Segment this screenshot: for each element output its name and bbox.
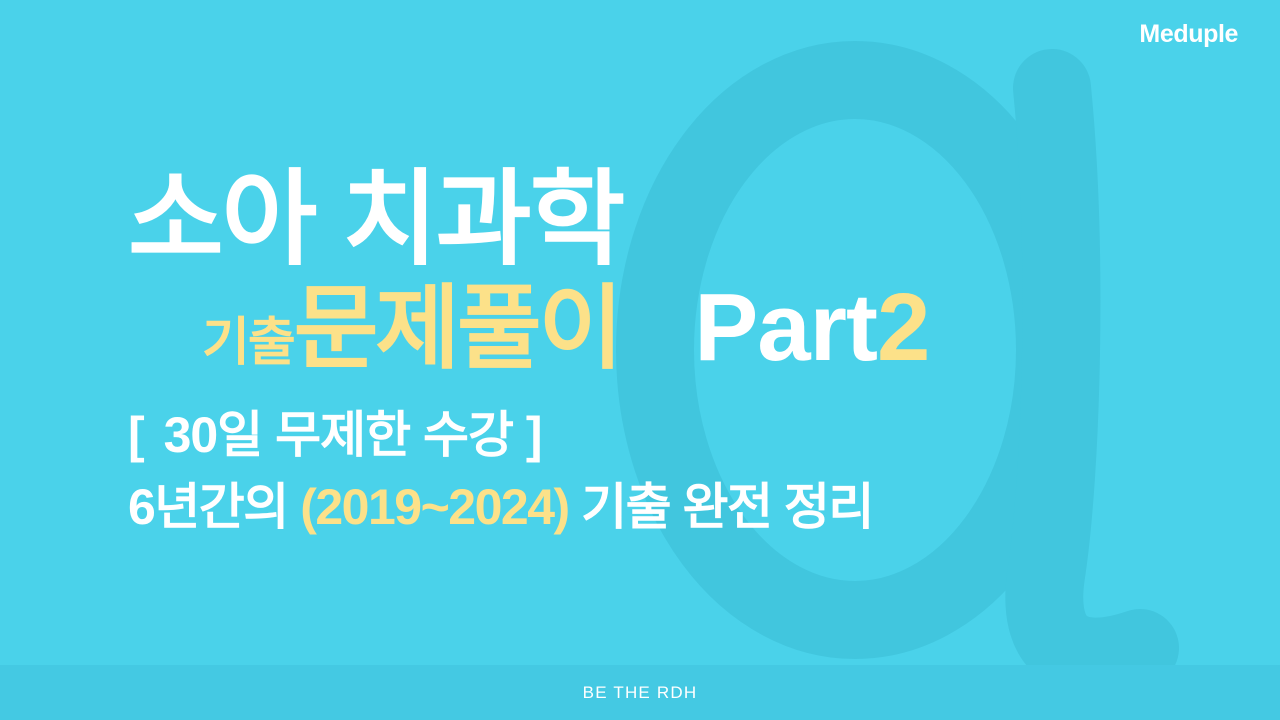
subject-prefix: 기출 <box>202 317 294 369</box>
footer-bar: BE THE RDH <box>0 665 1280 720</box>
part-label: Part <box>694 274 877 381</box>
coverage-suffix: 기출 완전 정리 <box>581 479 873 535</box>
coverage-prefix: 6년간의 <box>128 479 288 535</box>
hero-content: 소아 치과학 기출 문제풀이 Part2 [ 30일 무제한 수강 ] 6년간의… <box>128 168 1188 532</box>
bracket-close: ] <box>526 407 549 463</box>
subject-row: 기출 문제풀이 Part2 <box>128 280 1188 376</box>
part-number: 2 <box>877 274 929 381</box>
part-badge: Part2 <box>694 280 929 376</box>
subject-main: 문제풀이 <box>294 283 621 375</box>
course-title: 소아 치과학 <box>128 168 1188 272</box>
footer-tagline: BE THE RDH <box>583 683 698 703</box>
offer-line: [ 30일 무제한 수강 ] <box>128 410 1188 460</box>
bracket-open: [ <box>128 407 151 463</box>
brand-logo: Meduple <box>1139 22 1238 47</box>
thumbnail-canvas: Meduple 소아 치과학 기출 문제풀이 Part2 [ 30일 무제한 수… <box>0 0 1280 720</box>
offer-text: 30일 무제한 수강 <box>164 407 513 463</box>
coverage-years: (2019~2024) <box>300 479 568 535</box>
coverage-line: 6년간의 (2019~2024) 기출 완전 정리 <box>128 482 1188 532</box>
